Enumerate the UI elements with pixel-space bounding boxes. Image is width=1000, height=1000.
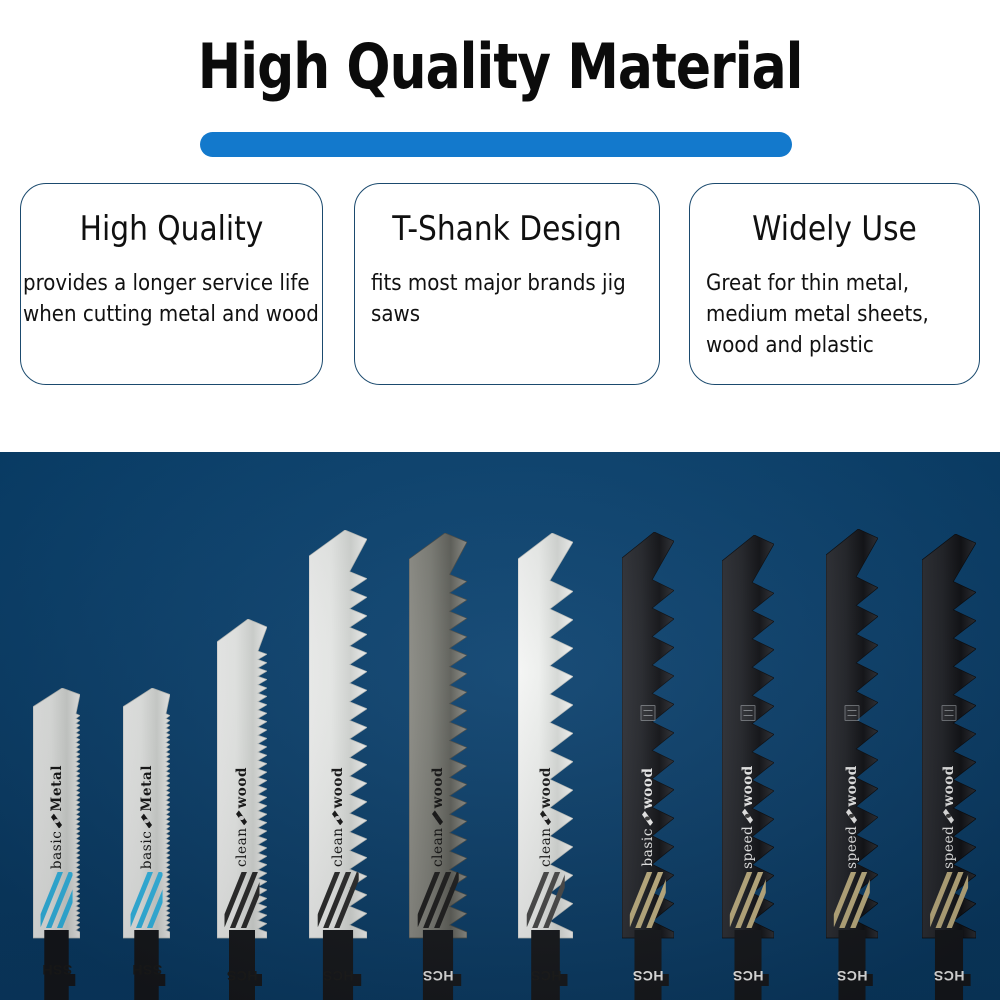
saw-blade-6: cleanwood HCS	[518, 533, 573, 1000]
saw-blade-5: cleanwood HCS	[409, 533, 467, 1000]
header-section: High Quality Material	[0, 0, 1000, 160]
saw-blade-2: basicMetal SSH	[123, 688, 170, 1000]
feature-card-body: Great for thin metal, medium metal sheet…	[706, 268, 986, 361]
blade-body: cleanwood HCS	[409, 533, 467, 1000]
feature-card-body: provides a longer service life when cutt…	[23, 268, 337, 330]
title-wrap: High Quality Material	[0, 34, 1000, 100]
blade-t-shank	[217, 930, 267, 1000]
saw-blade-4: cleanwood HCS	[309, 530, 367, 1000]
feature-card-high-quality: High Quality provides a longer service l…	[20, 183, 323, 385]
blade-body: basicMetal SSH	[123, 688, 170, 1000]
saw-blade-3: cleanwood HCS	[217, 619, 267, 1000]
product-photo-panel: basicMetal SSH basicMetal SSH	[0, 452, 1000, 1000]
feature-cards: High Quality provides a longer service l…	[0, 183, 1000, 388]
blade-t-shank	[622, 930, 674, 1000]
saw-blade-1: basicMetal SSH	[33, 688, 80, 1000]
saw-blade-10: speedwood HCS	[922, 534, 976, 1000]
blade-body: speedwood HCS	[722, 535, 774, 1000]
blade-t-shank	[518, 930, 573, 1000]
blade-t-shank	[33, 930, 80, 1000]
feature-card-title: T-Shank Design	[350, 210, 664, 248]
blade-body: basicwood HCS	[622, 532, 674, 1000]
blade-body: cleanwood HCS	[309, 530, 367, 1000]
blade-t-shank	[409, 930, 467, 1000]
blade-t-shank	[309, 930, 367, 1000]
feature-card-title: Widely Use	[685, 210, 985, 248]
saw-blade-8: speedwood HCS	[722, 535, 774, 1000]
blade-t-shank	[922, 930, 976, 1000]
blade-body: speedwood HCS	[826, 529, 878, 1000]
saw-blade-9: speedwood HCS	[826, 529, 878, 1000]
blade-body: cleanwood HCS	[217, 619, 267, 1000]
feature-card-widely-use: Widely Use Great for thin metal, medium …	[689, 183, 980, 385]
feature-card-body: fits most major brands jig saws	[371, 268, 665, 330]
blade-t-shank	[826, 930, 878, 1000]
feature-card-t-shank-design: T-Shank Design fits most major brands ji…	[354, 183, 660, 385]
saw-blade-7: basicwood HCS	[622, 532, 674, 1000]
blade-body: cleanwood HCS	[518, 533, 573, 1000]
blade-body: speedwood HCS	[922, 534, 976, 1000]
blade-body: basicMetal SSH	[33, 688, 80, 1000]
page-title: High Quality Material	[198, 34, 803, 100]
blade-t-shank	[123, 930, 170, 1000]
title-underline-bar	[200, 132, 792, 157]
feature-card-title: High Quality	[16, 210, 327, 248]
blade-t-shank	[722, 930, 774, 1000]
